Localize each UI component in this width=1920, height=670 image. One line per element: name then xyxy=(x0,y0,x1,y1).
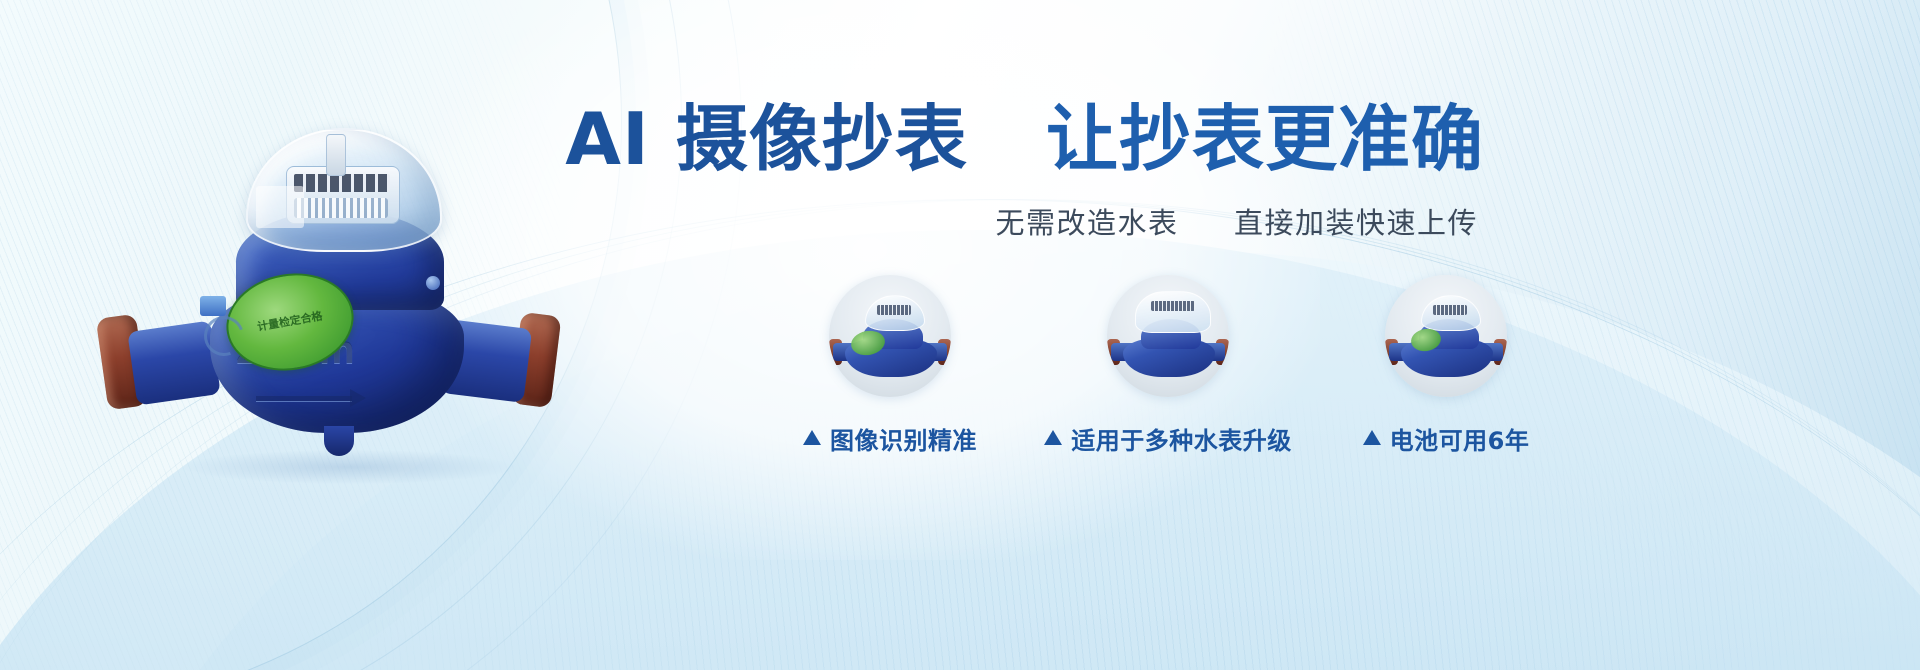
meter-antenna xyxy=(326,134,346,176)
feature-caption-text: 适用于多种水表升级 xyxy=(1071,421,1292,456)
meter-ground-shadow xyxy=(184,450,514,484)
banner-headline: AI 摄像抄表 让抄表更准确 xyxy=(560,97,1484,181)
subheadline-part-1: 无需改造水表 xyxy=(996,206,1179,240)
flow-direction-arrow-icon xyxy=(256,396,352,401)
content-column: AI 摄像抄表 让抄表更准确 无需改造水表 直接加装快速上传 xyxy=(560,0,1920,670)
meter-spec-label xyxy=(256,186,304,228)
meter-camera-module xyxy=(294,198,388,218)
feature-thumbnail xyxy=(1385,275,1507,397)
feature-caption: 电池可用6年 xyxy=(1363,421,1530,456)
feature-item: 适用于多种水表升级 xyxy=(1038,275,1298,456)
meter-drain-plug xyxy=(324,426,354,456)
thumb-dial-icon xyxy=(1433,305,1467,315)
triangle-bullet-icon xyxy=(1363,430,1381,445)
feature-thumbnail xyxy=(829,275,951,397)
meter-housing-screw xyxy=(426,276,440,290)
feature-caption-text: 图像识别精准 xyxy=(830,421,977,456)
meter-odometer-digits xyxy=(294,174,390,192)
triangle-bullet-icon xyxy=(1044,430,1062,445)
headline-primary: AI 摄像抄表 xyxy=(565,97,968,181)
thumb-dome-icon xyxy=(1135,291,1211,333)
feature-list: 图像识别精准 适用于多种水表升级 xyxy=(760,275,1920,456)
hero-water-meter-image: 20mm 计量检定合格 xyxy=(88,78,568,498)
feature-thumbnail xyxy=(1107,275,1229,397)
meter-seal-tag xyxy=(200,296,226,316)
thumb-dial-icon xyxy=(1151,301,1195,311)
feature-item: 图像识别精准 xyxy=(760,275,1020,456)
feature-item: 电池可用6年 xyxy=(1316,275,1576,456)
feature-caption: 适用于多种水表升级 xyxy=(1044,421,1292,456)
headline-secondary: 让抄表更准确 xyxy=(1046,97,1484,181)
triangle-bullet-icon xyxy=(803,430,821,445)
subheadline-part-2: 直接加装快速上传 xyxy=(1234,206,1478,240)
feature-caption-text: 电池可用6年 xyxy=(1390,421,1530,456)
promo-banner: 20mm 计量检定合格 AI 摄像抄表 让抄表更准确 无需改造水表 直接加装快速… xyxy=(0,0,1920,670)
thumb-dial-icon xyxy=(877,305,911,315)
inspection-seal-text: 计量检定合格 xyxy=(256,310,323,334)
banner-subheadline: 无需改造水表 直接加装快速上传 xyxy=(560,200,1478,242)
feature-caption: 图像识别精准 xyxy=(803,421,977,456)
